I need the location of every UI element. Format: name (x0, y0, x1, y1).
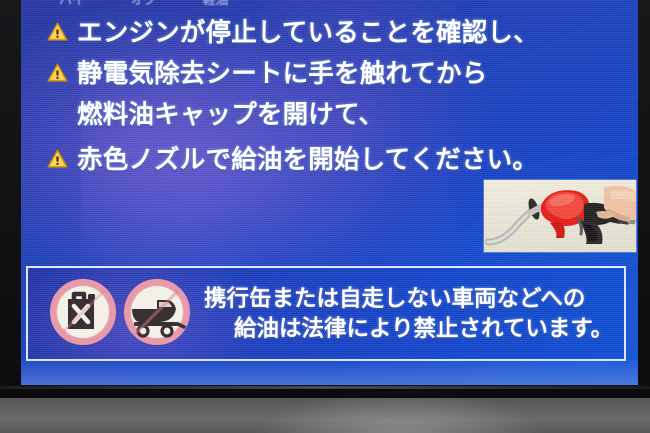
warning-triangle-icon (47, 149, 68, 168)
prohibition-icon-group (50, 279, 190, 349)
instruction-line: 静電気除去シートに手を触れてから (47, 55, 627, 96)
fuel-dispenser-device: ハイ オク 軽油 エンジンが停止していることを確認し、 (0, 0, 650, 433)
no-jerry-can-icon (50, 279, 116, 349)
instruction-line: 赤色ノズルで給油を開始してください。 (47, 141, 627, 182)
screen-bottom-glow (21, 357, 638, 385)
instruction-text: 燃料油キャップを開けて、 (77, 96, 384, 134)
top-fragment-2: オク (131, 0, 157, 8)
prohibition-text-line: 給油は法律により禁止されています。 (204, 314, 613, 344)
instruction-line: エンジンが停止していることを確認し、 (47, 14, 627, 55)
no-boat-trailer-icon (124, 279, 190, 349)
warning-triangle-icon (47, 22, 68, 41)
lcd-screen[interactable]: ハイ オク 軽油 エンジンが停止していることを確認し、 (21, 0, 638, 385)
bezel-highlight (0, 386, 650, 389)
prohibition-text-line: 携行缶または自走しない車両などへの (204, 284, 613, 314)
prohibition-notice-box: 携行缶または自走しない車両などへの 給油は法律により禁止されています。 (26, 266, 626, 361)
instruction-text: 赤色ノズルで給油を開始してください。 (77, 141, 538, 179)
photo-texture (484, 180, 636, 252)
prohibition-text-group: 携行缶または自走しない車両などへの 給油は法律により禁止されています。 (204, 284, 613, 344)
top-cutoff-row: ハイ オク 軽油 (21, 0, 638, 8)
instruction-text: エンジンが停止していることを確認し、 (77, 14, 539, 52)
warning-triangle-icon (47, 63, 68, 82)
instruction-list: エンジンが停止していることを確認し、 静電気除去シートに手を触れてから 燃料油キ… (47, 14, 627, 182)
red-fuel-nozzle-photo (484, 180, 636, 252)
top-fragment-3: 軽油 (203, 0, 229, 8)
instruction-line-continuation: 燃料油キャップを開けて、 (47, 96, 627, 137)
instruction-text: 静電気除去シートに手を触れてから (77, 55, 487, 93)
top-fragment-1: ハイ (59, 0, 85, 8)
